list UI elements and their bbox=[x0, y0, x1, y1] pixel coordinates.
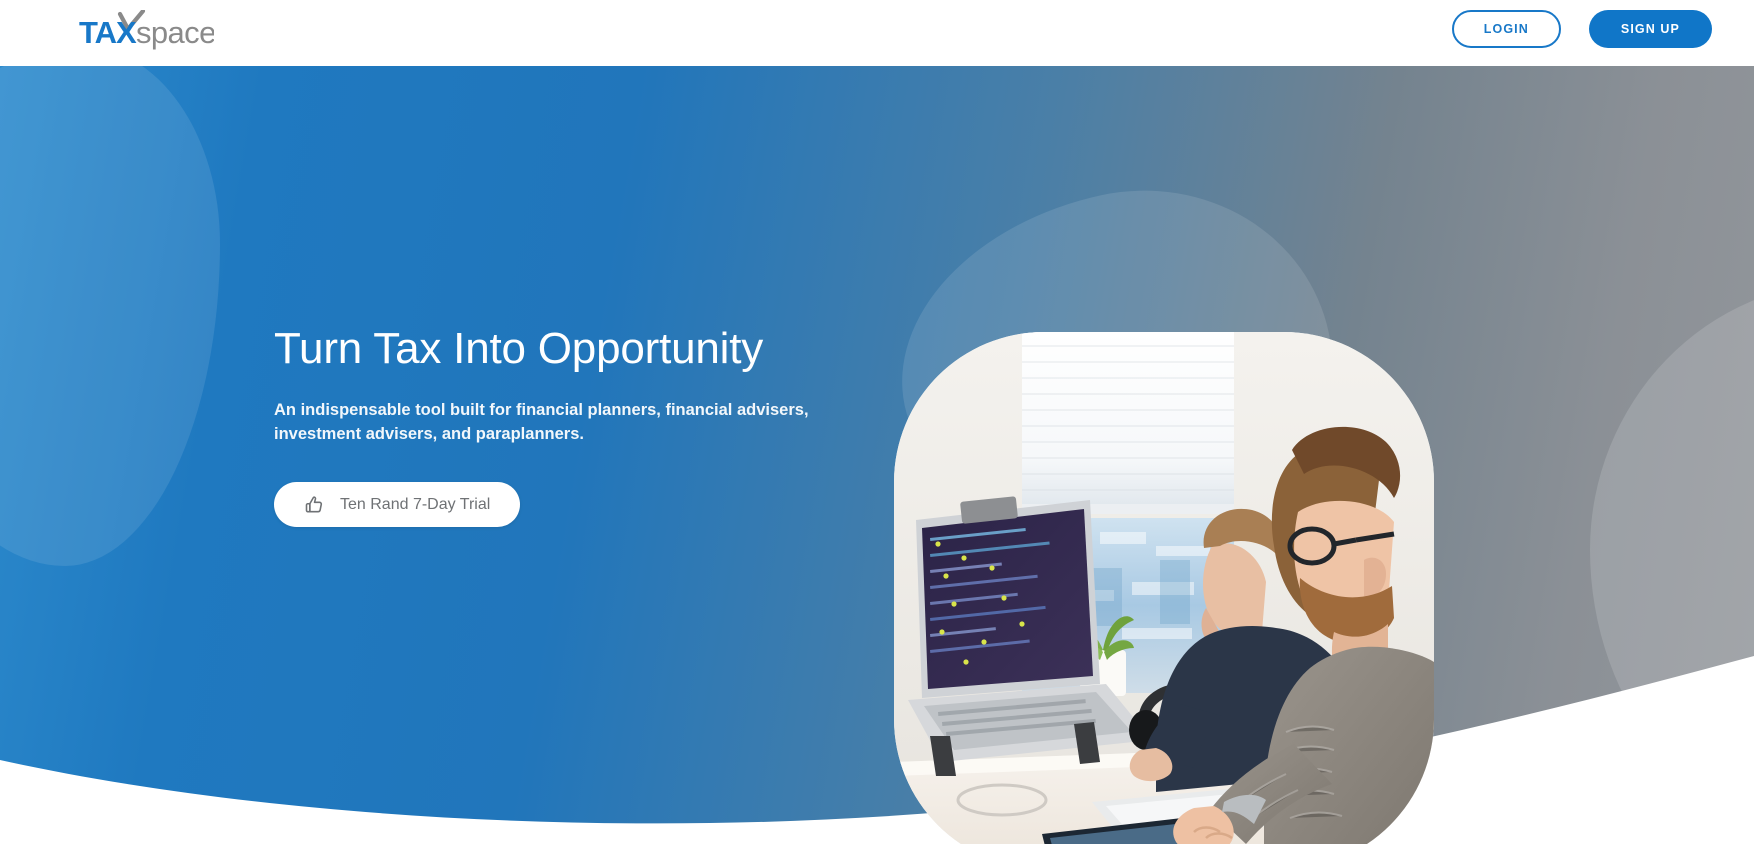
site-header: TAX space LOGIN SIGN UP bbox=[0, 0, 1754, 66]
landing-page: TAX space LOGIN SIGN UP bbox=[0, 0, 1754, 844]
brand-logo[interactable]: TAX space bbox=[79, 10, 214, 54]
thumbs-up-icon bbox=[304, 495, 324, 515]
login-button[interactable]: LOGIN bbox=[1452, 10, 1561, 48]
hero-headline: Turn Tax Into Opportunity bbox=[274, 324, 854, 373]
header-actions: LOGIN SIGN UP bbox=[1452, 10, 1712, 48]
hero-subheadline: An indispensable tool built for financia… bbox=[274, 399, 826, 446]
free-trial-button[interactable]: Ten Rand 7-Day Trial bbox=[274, 482, 520, 527]
taxspace-logo-icon: TAX space bbox=[79, 10, 214, 54]
office-workers-photo bbox=[894, 332, 1434, 844]
hero-photo-card bbox=[894, 332, 1434, 844]
svg-text:TAX: TAX bbox=[79, 15, 137, 50]
hero-section: Turn Tax Into Opportunity An indispensab… bbox=[0, 66, 1754, 844]
hero-copy: Turn Tax Into Opportunity An indispensab… bbox=[274, 324, 854, 527]
svg-text:space: space bbox=[136, 15, 214, 50]
free-trial-label: Ten Rand 7-Day Trial bbox=[340, 496, 490, 514]
signup-button[interactable]: SIGN UP bbox=[1589, 10, 1712, 48]
hero-bottom-wave bbox=[0, 584, 1754, 844]
